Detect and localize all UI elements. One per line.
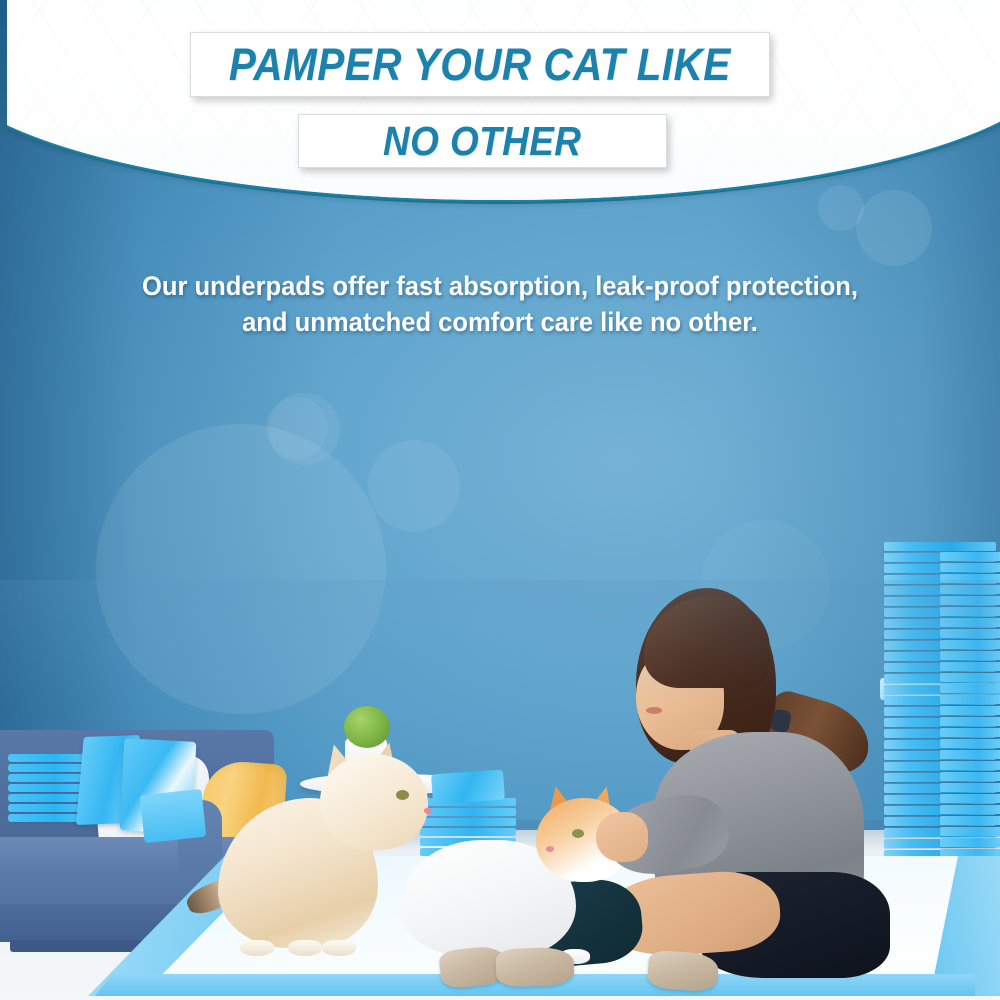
orange-cat-nose <box>546 846 554 852</box>
girl-hand <box>596 812 648 862</box>
girl-shoe-2 <box>495 947 574 988</box>
subtitle-block: Our underpads offer fast absorption, lea… <box>0 268 1000 340</box>
headline-text-line-2: NO OTHER <box>383 118 581 165</box>
promo-banner: PAMPER YOUR CAT LIKE NO OTHER Our underp… <box>0 0 1000 1000</box>
cream-cat-head <box>320 754 428 850</box>
decorative-circle-3 <box>266 397 328 459</box>
headline-box-line-2: NO OTHER <box>298 114 667 168</box>
headline-box-line-1: PAMPER YOUR CAT LIKE <box>190 32 770 97</box>
cream-cat-paw-1 <box>240 940 274 956</box>
cream-cat-paw-2 <box>288 940 322 956</box>
orange-cat-eye <box>572 829 584 838</box>
product-scene <box>0 580 1000 1000</box>
decorative-circle-6 <box>856 190 932 266</box>
headline-text-line-1: PAMPER YOUR CAT LIKE <box>229 39 731 91</box>
decorative-circle-4 <box>368 440 460 532</box>
pad-stack-sofa-left <box>8 754 86 822</box>
pad-stack-right-back <box>940 552 1000 860</box>
cream-cat-eye <box>396 790 409 800</box>
subtitle-line-2: and unmatched comfort care like no other… <box>85 304 915 340</box>
girl-lips <box>646 707 662 714</box>
header-left-corner-accent <box>0 0 7 132</box>
pad-folded <box>140 789 207 843</box>
cream-cat-paw-3 <box>322 940 356 956</box>
subtitle-line-1: Our underpads offer fast absorption, lea… <box>85 268 915 304</box>
pad-stack-floor-top <box>431 770 505 805</box>
cream-cat-nose <box>424 808 432 814</box>
header-arc <box>0 0 1000 200</box>
